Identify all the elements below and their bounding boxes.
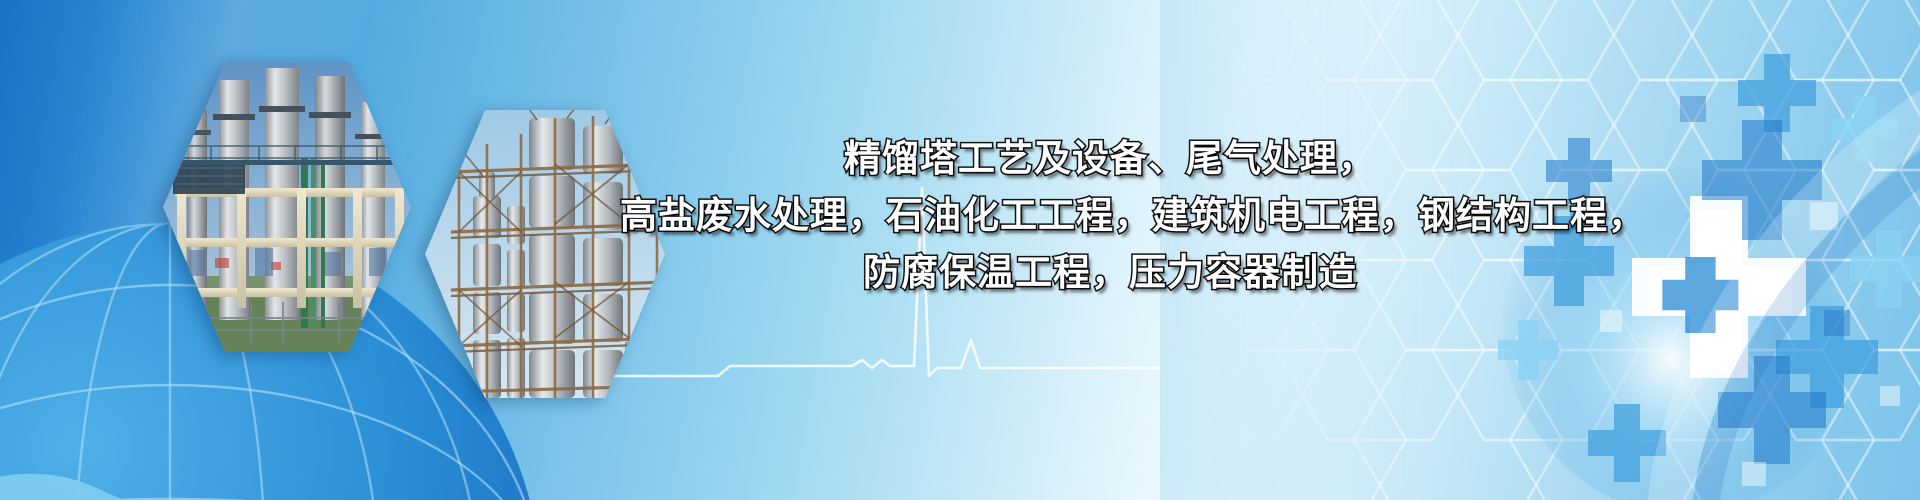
headline-line-1: 精馏塔工艺及设备、尾气处理， bbox=[620, 130, 1600, 187]
distillation-plant-illustration bbox=[163, 62, 411, 352]
headline-line-3: 防腐保温工程，压力容器制造 bbox=[620, 244, 1600, 301]
hex-photo-distillation-plant[interactable] bbox=[163, 62, 411, 352]
banner-headline: 精馏塔工艺及设备、尾气处理， 高盐废水处理，石油化工工程，建筑机电工程，钢结构工… bbox=[620, 130, 1600, 301]
headline-line-2: 高盐废水处理，石油化工工程，建筑机电工程，钢结构工程， bbox=[620, 187, 1600, 244]
promo-banner: 精馏塔工艺及设备、尾气处理， 高盐废水处理，石油化工工程，建筑机电工程，钢结构工… bbox=[0, 0, 1920, 500]
